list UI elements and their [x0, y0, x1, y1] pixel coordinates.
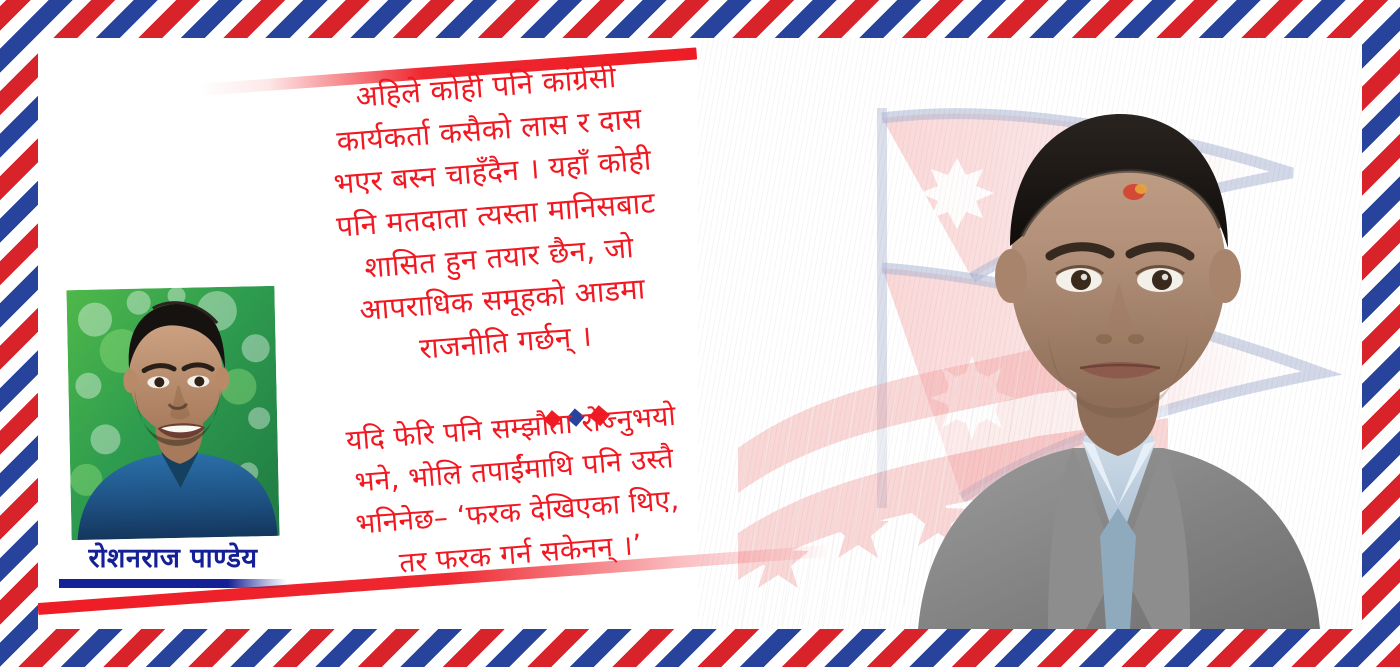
author-photo [66, 286, 279, 540]
author-block: रोशनराज पाण्डेय [48, 288, 298, 588]
card-content: अहिले कोही पनि कांग्रेसी कार्यकर्ता कसैक… [38, 38, 1362, 629]
author-name-underline [59, 579, 287, 588]
quote-card-stage: अहिले कोही पनि कांग्रेसी कार्यकर्ता कसैक… [0, 0, 1400, 667]
author-name: रोशनराज पाण्डेय [48, 544, 298, 574]
subject-portrait [898, 96, 1338, 629]
quote-paragraph-1: अहिले कोही पनि कांग्रेसी कार्यकर्ता कसैक… [250, 48, 742, 382]
